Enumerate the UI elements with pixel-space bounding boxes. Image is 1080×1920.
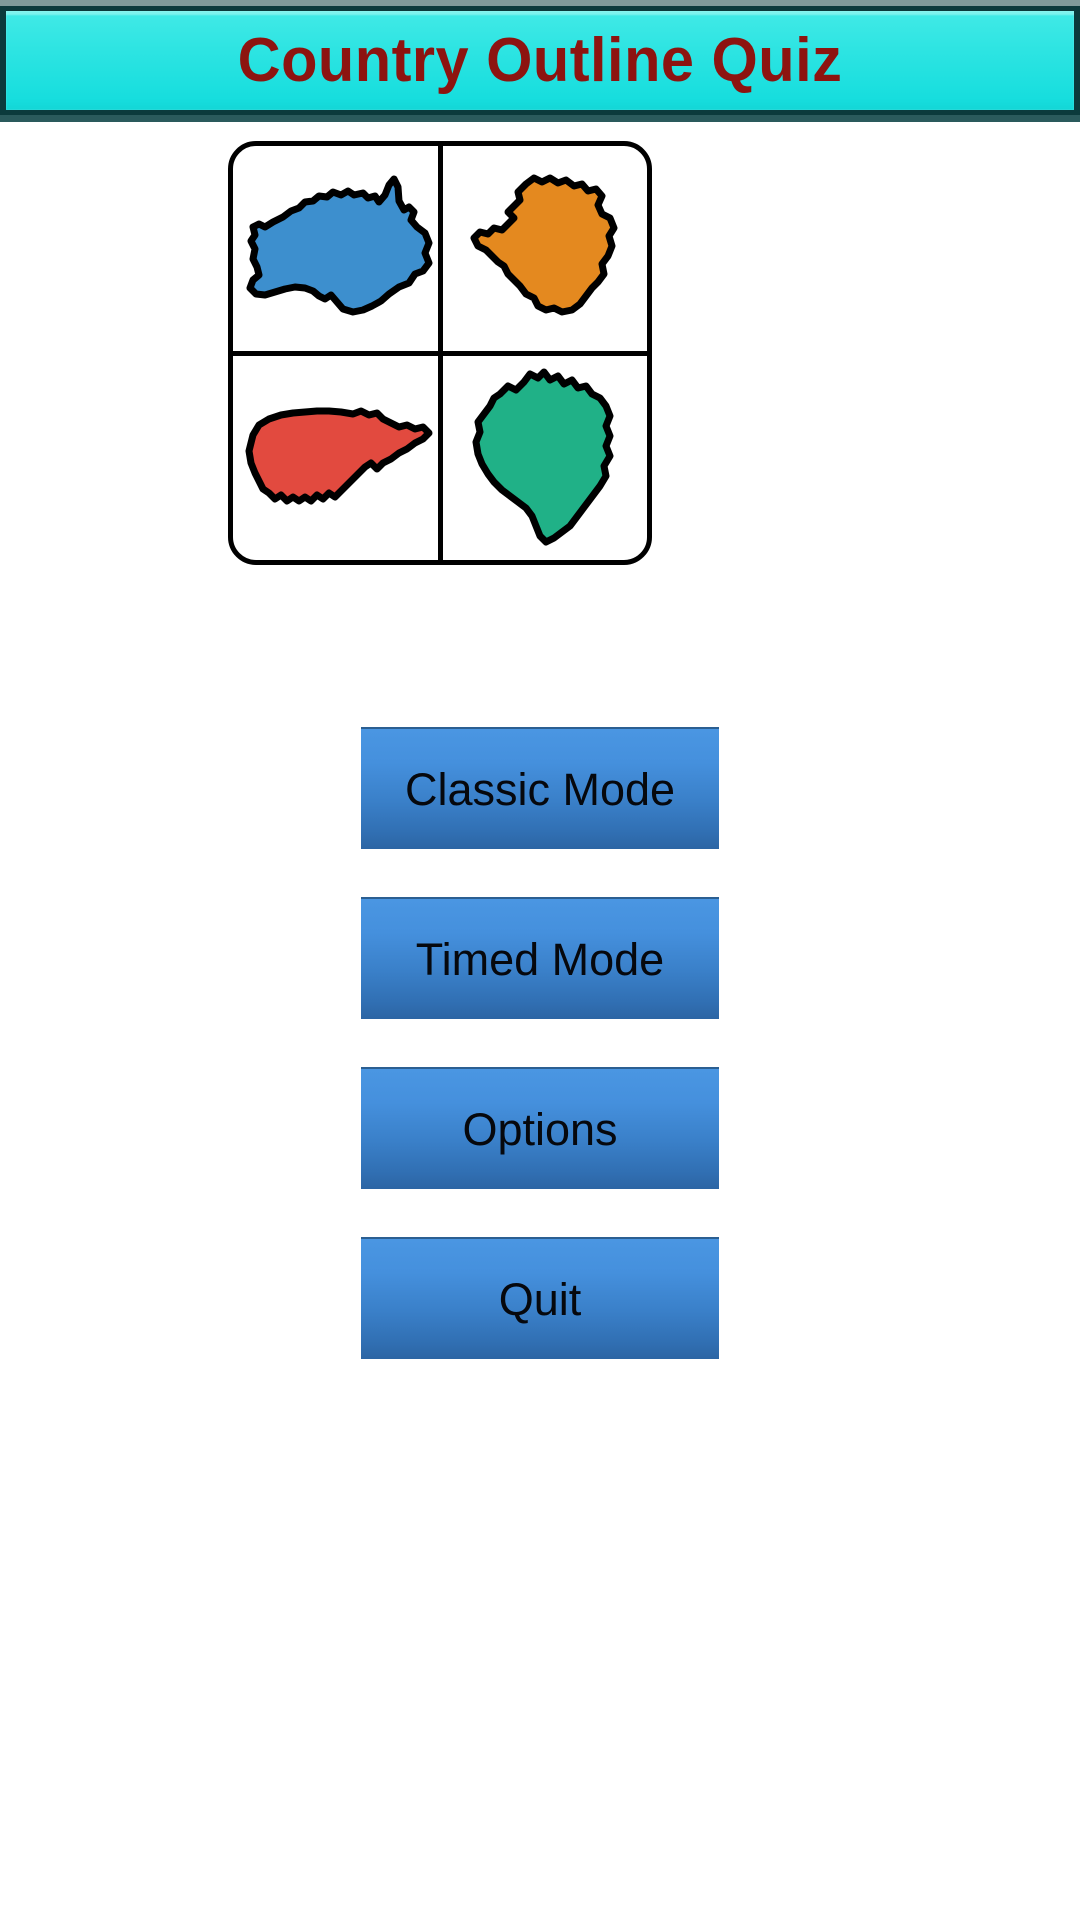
page-title: Country Outline Quiz (238, 30, 843, 92)
united-states-outline-icon (239, 393, 435, 521)
quit-button[interactable]: Quit (361, 1237, 719, 1359)
grid-border (228, 141, 652, 565)
france-outline-icon (464, 170, 624, 330)
options-button[interactable]: Options (361, 1067, 719, 1189)
grid-cell-united-states (233, 353, 440, 560)
timed-mode-button[interactable]: Timed Mode (361, 897, 719, 1019)
grid-divider-horizontal (233, 351, 647, 356)
brazil-outline-icon (464, 364, 624, 550)
classic-mode-button[interactable]: Classic Mode (361, 727, 719, 849)
country-outline-grid (228, 141, 652, 565)
australia-outline-icon (239, 175, 435, 325)
grid-cell-france (440, 146, 647, 353)
app-header-surface: Country Outline Quiz (6, 11, 1074, 110)
app-header: Country Outline Quiz (0, 0, 1080, 122)
grid-cell-brazil (440, 353, 647, 560)
grid-cell-australia (233, 146, 440, 353)
main-menu: Classic Mode Timed Mode Options Quit (0, 727, 1080, 1359)
